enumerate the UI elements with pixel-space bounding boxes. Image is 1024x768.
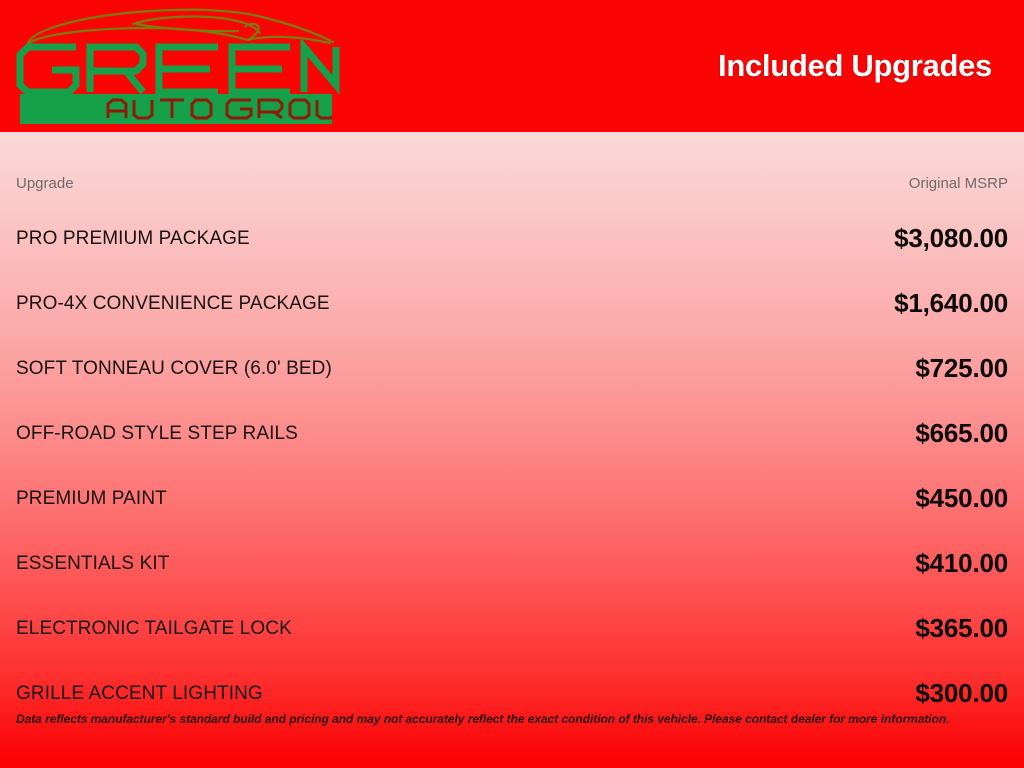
upgrade-name: OFF-ROAD STYLE STEP RAILS — [16, 423, 298, 445]
upgrade-name: ESSENTIALS KIT — [16, 553, 169, 575]
upgrade-name: PRO PREMIUM PACKAGE — [16, 228, 250, 250]
page-title: Included Upgrades — [718, 0, 992, 132]
dealer-logo[interactable] — [8, 2, 348, 128]
table-row: SOFT TONNEAU COVER (6.0' BED) $725.00 — [16, 336, 1008, 401]
page-header: Included Upgrades — [0, 0, 1024, 132]
logo-wordmark-green — [14, 40, 342, 98]
table-row: PREMIUM PAINT $450.00 — [16, 466, 1008, 531]
upgrade-price: $1,640.00 — [894, 288, 1008, 319]
table-row: OFF-ROAD STYLE STEP RAILS $665.00 — [16, 401, 1008, 466]
table-row: ESSENTIALS KIT $410.00 — [16, 531, 1008, 596]
column-header-upgrade: Upgrade — [16, 175, 74, 192]
upgrade-name: SOFT TONNEAU COVER (6.0' BED) — [16, 358, 332, 380]
upgrade-price: $725.00 — [915, 353, 1008, 384]
table-row: PRO PREMIUM PACKAGE $3,080.00 — [16, 206, 1008, 271]
upgrade-price: $365.00 — [915, 613, 1008, 644]
upgrade-price: $450.00 — [915, 483, 1008, 514]
upgrade-name: GRILLE ACCENT LIGHTING — [16, 683, 263, 705]
upgrade-price: $410.00 — [915, 548, 1008, 579]
upgrade-price: $300.00 — [915, 678, 1008, 709]
upgrade-name: ELECTRONIC TAILGATE LOCK — [16, 618, 292, 640]
table-row: PRO-4X CONVENIENCE PACKAGE $1,640.00 — [16, 271, 1008, 336]
upgrade-name: PREMIUM PAINT — [16, 488, 167, 510]
upgrade-price: $665.00 — [915, 418, 1008, 449]
column-header-msrp: Original MSRP — [909, 175, 1008, 192]
disclaimer-text: Data reflects manufacturer's standard bu… — [16, 712, 1008, 726]
upgrades-table: Upgrade Original MSRP PRO PREMIUM PACKAG… — [0, 132, 1024, 702]
table-row: ELECTRONIC TAILGATE LOCK $365.00 — [16, 596, 1008, 661]
upgrade-price: $3,080.00 — [894, 223, 1008, 254]
logo-tagline-bar — [20, 94, 332, 124]
table-header-row: Upgrade Original MSRP — [16, 132, 1008, 206]
upgrade-name: PRO-4X CONVENIENCE PACKAGE — [16, 293, 330, 315]
